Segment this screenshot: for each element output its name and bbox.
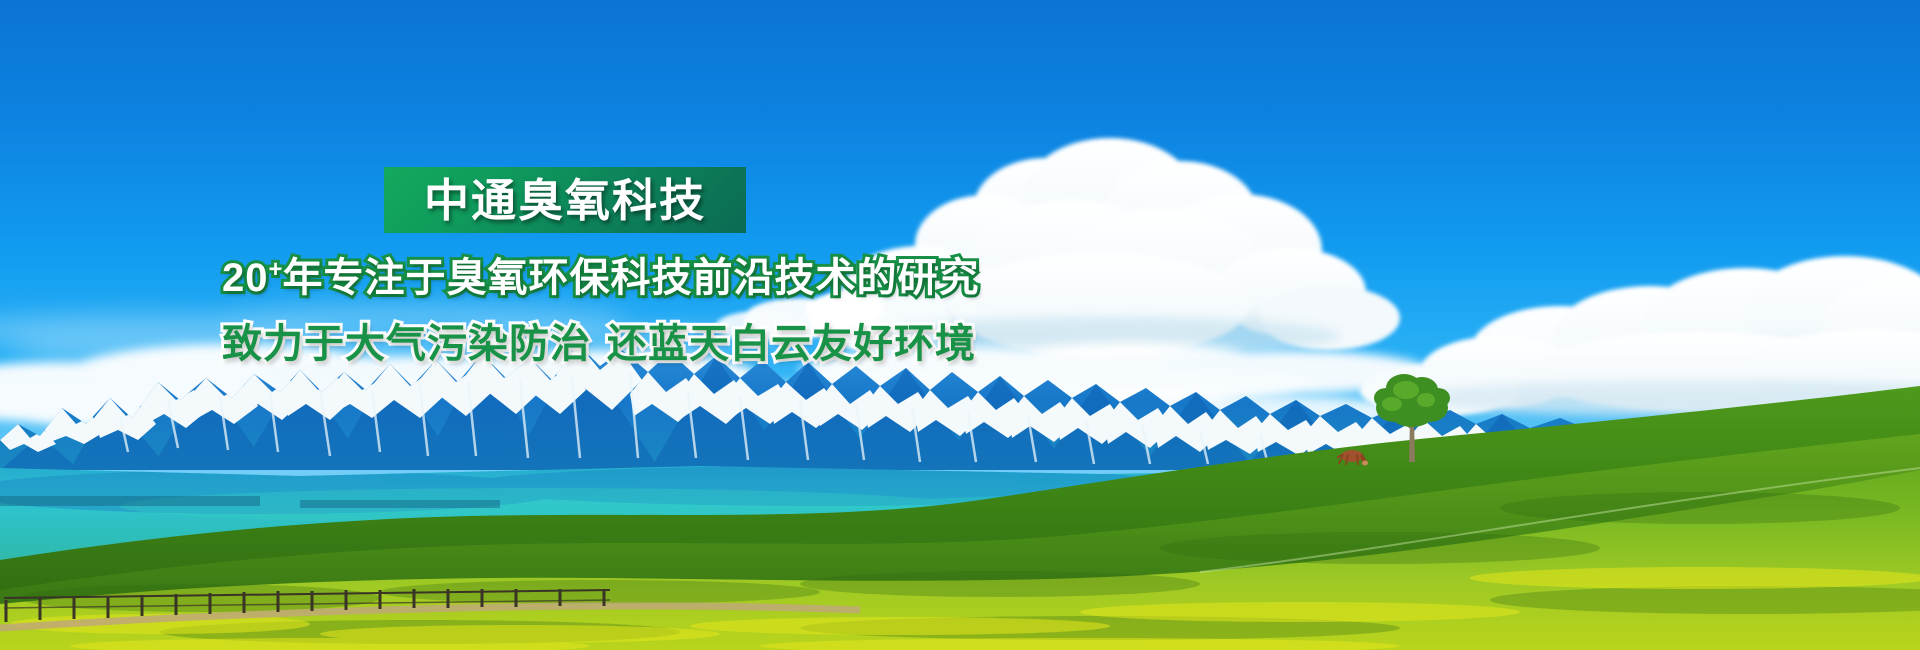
brand-logo-box[interactable]: 中通臭氧科技 (384, 167, 746, 233)
tagline-line-1: 20+年专注于臭氧环保科技前沿技术的研究 (222, 258, 980, 298)
brand-name: 中通臭氧科技 (424, 178, 706, 223)
tagline-years-number: 20 (222, 256, 269, 300)
tagline-line-2: 致力于大气污染防治还蓝天白云友好环境 (222, 324, 976, 364)
tagline-line-2-part-a: 致力于大气污染防治 (222, 322, 591, 366)
tagline-line-2-part-b: 还蓝天白云友好环境 (607, 322, 976, 366)
tagline-line-1-rest: 年专注于臭氧环保科技前沿技术的研究 (283, 256, 980, 300)
tagline-plus-superscript: + (269, 256, 283, 283)
hero-banner: 中通臭氧科技 20+年专注于臭氧环保科技前沿技术的研究 致力于大气污染防治还蓝天… (0, 0, 1920, 650)
